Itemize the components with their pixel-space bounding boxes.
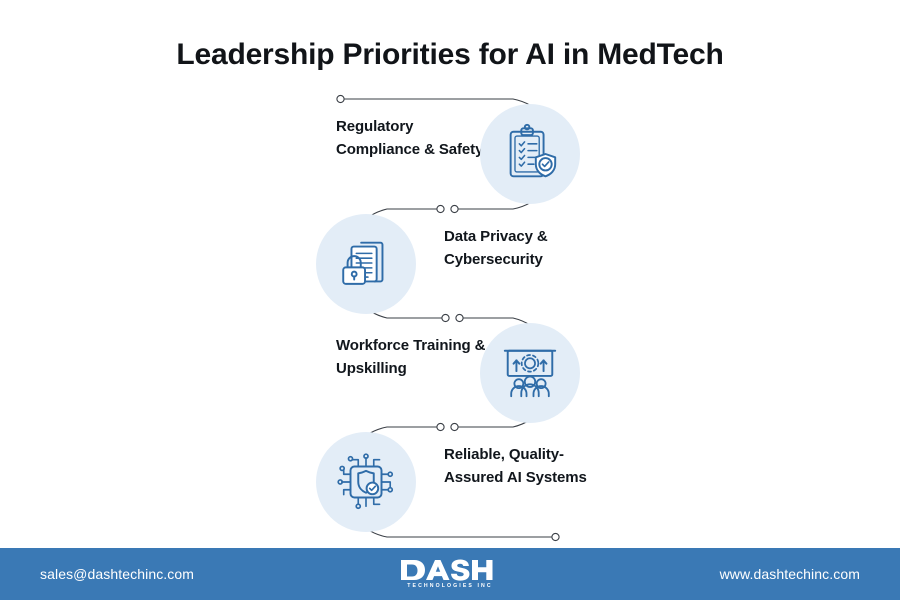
flow-item-2-label: Data Privacy & Cybersecurity [444,225,604,271]
footer-bar: sales@dashtechinc.com TECHNOLOGIES INC w… [0,548,900,600]
flow-item-1-icon-disc [480,104,580,204]
footer-website[interactable]: www.dashtechinc.com [720,566,860,582]
flow-item-3[interactable]: Workforce Training & Upskilling [310,318,600,428]
documents-padlock-icon [335,233,397,295]
flow-diagram: Regulatory Compliance & Safety [0,0,900,548]
flow-item-2-icon-disc [316,214,416,314]
flow-item-2[interactable]: Data Privacy & Cybersecurity [310,209,600,319]
footer-logo[interactable]: TECHNOLOGIES INC [401,559,499,589]
flow-item-4[interactable]: Reliable, Quality-Assured AI Systems [310,427,600,537]
presentation-gear-people-icon [499,342,561,404]
dash-logo-icon [401,559,499,581]
flow-item-4-label: Reliable, Quality-Assured AI Systems [444,443,604,489]
footer-email[interactable]: sales@dashtechinc.com [40,566,194,582]
dash-logo-tagline: TECHNOLOGIES INC [407,583,492,589]
flow-item-1[interactable]: Regulatory Compliance & Safety [310,99,600,209]
flow-item-3-label: Workforce Training & Upskilling [336,334,486,380]
microchip-shield-check-icon [335,451,397,513]
flow-item-3-icon-disc [480,323,580,423]
clipboard-checklist-verified-icon [499,123,561,185]
flow-item-4-icon-disc [316,432,416,532]
flow-item-1-label: Regulatory Compliance & Safety [336,115,486,161]
